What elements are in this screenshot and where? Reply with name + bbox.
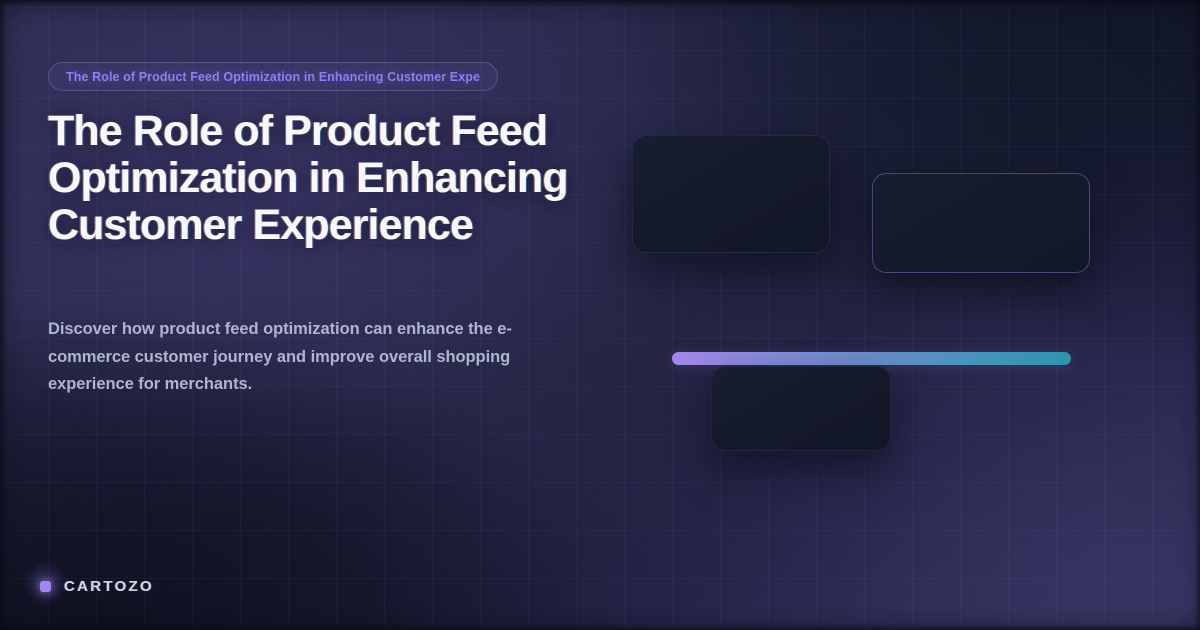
category-badge: The Role of Product Feed Optimization in… <box>48 62 498 91</box>
brand-name-label: CARTOZO <box>64 578 154 595</box>
category-badge-label: The Role of Product Feed Optimization in… <box>66 70 480 84</box>
page-title: The Role of Product Feed Optimization in… <box>48 108 593 249</box>
decorative-card-top-left <box>632 135 830 253</box>
decorative-card-top-right <box>872 173 1090 273</box>
hero-banner: The Role of Product Feed Optimization in… <box>0 0 1200 630</box>
decorative-accent-bar <box>672 352 1071 365</box>
decorative-card-bottom <box>711 366 891 451</box>
hero-content: The Role of Product Feed Optimization in… <box>48 0 648 630</box>
rounded-square-mark-icon <box>40 581 51 592</box>
brand-logo: CARTOZO <box>40 578 154 595</box>
page-subtitle: Discover how product feed optimization c… <box>48 316 578 399</box>
